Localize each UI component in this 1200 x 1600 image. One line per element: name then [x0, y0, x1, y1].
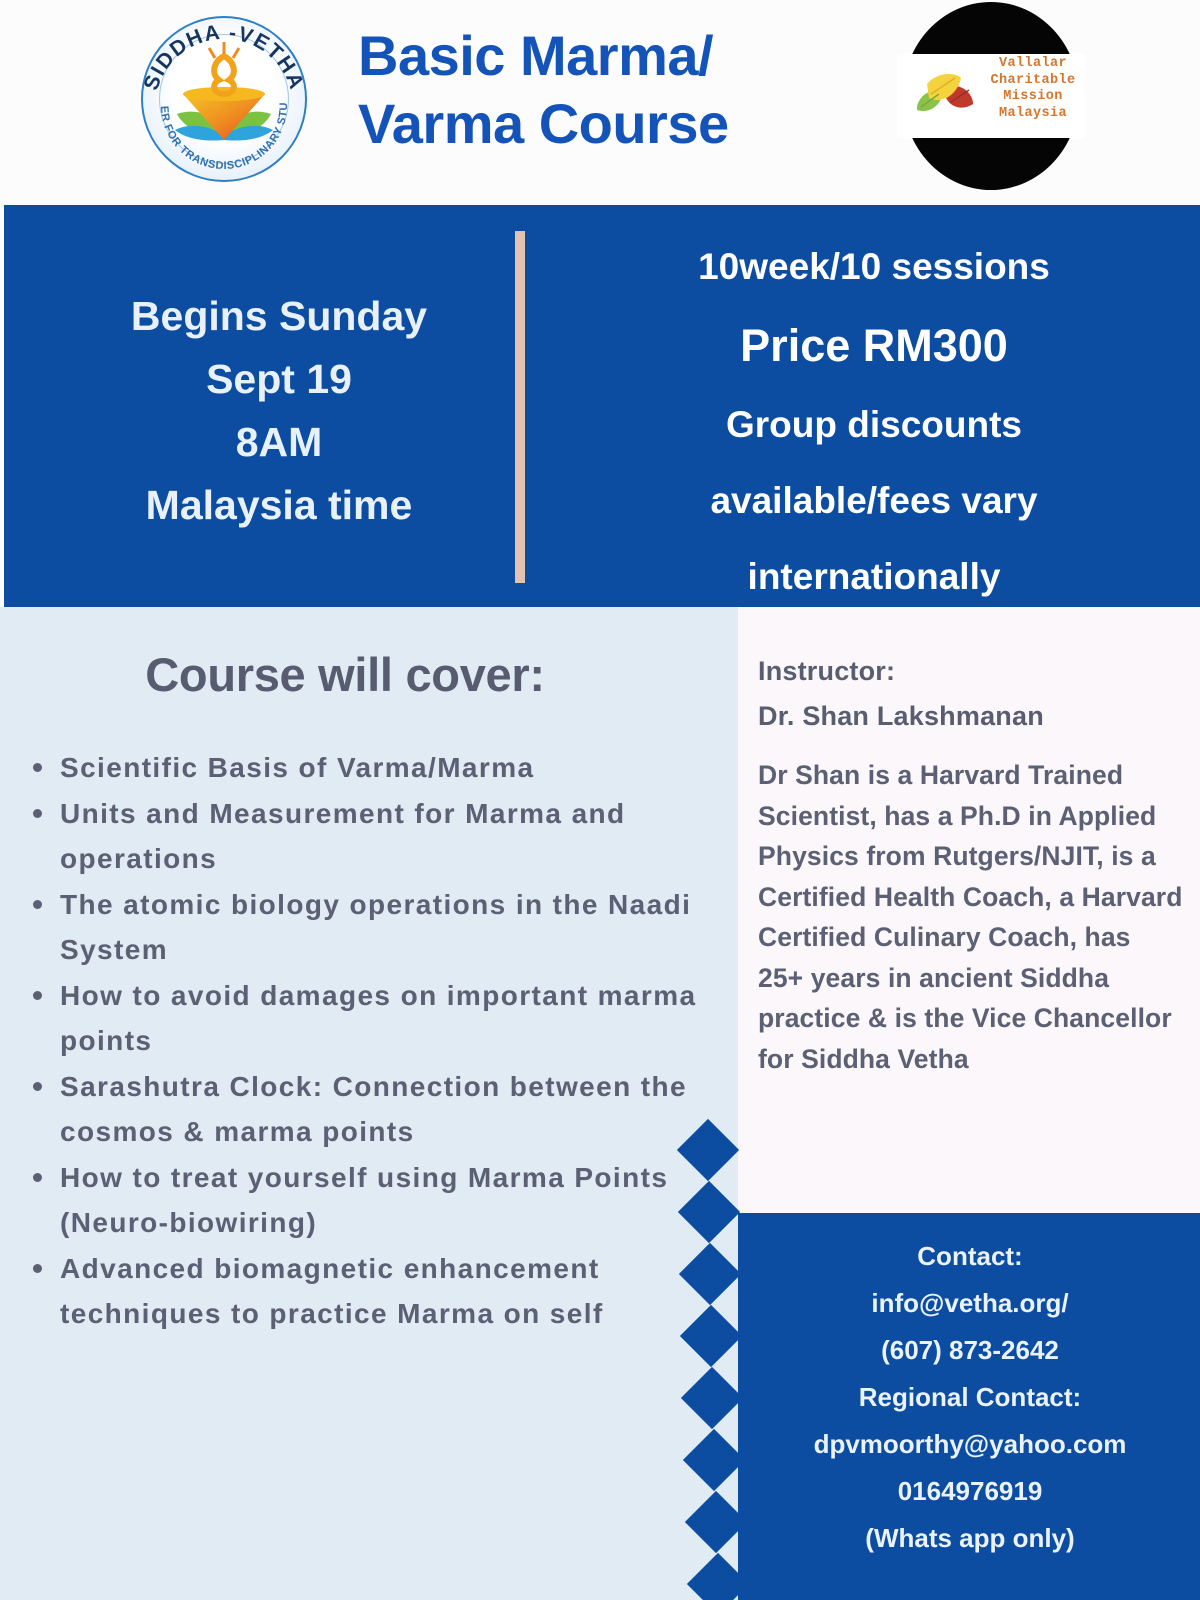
discount-line-3: internationally — [564, 539, 1184, 615]
contact-phone[interactable]: (607) 873-2642 — [756, 1327, 1184, 1374]
instructor-heading: Instructor: Dr. Shan Lakshmanan — [758, 649, 1188, 739]
vertical-divider — [515, 231, 525, 583]
list-item: Advanced biomagnetic enhancement techniq… — [18, 1246, 698, 1336]
discount-line-1: Group discounts — [564, 387, 1184, 463]
course-heading: Course will cover: — [0, 647, 690, 702]
logo-right-line-4: Malaysia — [983, 106, 1083, 123]
whatsapp-note: (Whats app only) — [756, 1515, 1184, 1562]
discount-line-2: available/fees vary — [564, 463, 1184, 539]
schedule-block: Begins Sunday Sept 19 8AM Malaysia time — [64, 285, 494, 537]
contact-box: Contact: info@vetha.org/ (607) 873-2642 … — [738, 1213, 1200, 1600]
instructor-bio: Dr Shan is a Harvard Trained Scientist, … — [758, 755, 1183, 1079]
contact-email[interactable]: info@vetha.org/ — [756, 1280, 1184, 1327]
poster-header: SIDDHA -VETHA CENTER FOR TRANSDISCIPLINA… — [0, 0, 1200, 205]
instructor-name: Dr. Shan Lakshmanan — [758, 694, 1188, 739]
regional-contact-phone[interactable]: 0164976919 — [756, 1468, 1184, 1515]
list-item-label: The atomic biology operations in the Naa… — [60, 889, 691, 965]
vallalar-charitable-mission-logo: Vallalar Charitable Mission Malaysia — [903, 2, 1079, 190]
list-item-label: Scientific Basis of Varma/Marma — [60, 752, 534, 783]
instructor-label: Instructor: — [758, 649, 1188, 694]
title-line-2: Varma Course — [358, 90, 888, 158]
list-item: How to treat yourself using Marma Points… — [18, 1155, 698, 1245]
schedule-line-1: Begins Sunday — [64, 285, 494, 348]
list-item-label: How to avoid damages on important marma … — [60, 980, 696, 1056]
contact-details: Contact: info@vetha.org/ (607) 873-2642 … — [756, 1233, 1184, 1562]
schedule-line-4: Malaysia time — [64, 474, 494, 537]
contact-label: Contact: — [756, 1233, 1184, 1280]
poster-root: SIDDHA -VETHA CENTER FOR TRANSDISCIPLINA… — [0, 0, 1200, 1600]
list-item-label: Advanced biomagnetic enhancement techniq… — [60, 1253, 604, 1329]
bullet-dot-icon — [33, 1264, 42, 1273]
bullet-dot-icon — [33, 809, 42, 818]
logo-right-line-1: Vallalar — [983, 56, 1083, 73]
bullet-dot-icon — [33, 1173, 42, 1182]
bullet-dot-icon — [33, 763, 42, 772]
list-item: Scientific Basis of Varma/Marma — [18, 745, 698, 790]
logo-right-line-3: Mission — [983, 89, 1083, 106]
bullet-dot-icon — [33, 1082, 42, 1091]
list-item: The atomic biology operations in the Naa… — [18, 882, 698, 972]
logo-right-text: Vallalar Charitable Mission Malaysia — [983, 56, 1083, 122]
list-item-label: Sarashutra Clock: Connection between the… — [60, 1071, 687, 1147]
course-content-column: Course will cover: Scientific Basis of V… — [0, 607, 738, 1600]
list-item-label: Units and Measurement for Marma and oper… — [60, 798, 626, 874]
leaves-icon — [911, 62, 981, 128]
price-block: 10week/10 sessions Price RM300 Group dis… — [564, 229, 1184, 615]
schedule-price-banner: Begins Sunday Sept 19 8AM Malaysia time … — [4, 205, 1200, 607]
discount-text: Group discounts available/fees vary inte… — [564, 387, 1184, 615]
siddha-vetha-logo: SIDDHA -VETHA CENTER FOR TRANSDISCIPLINA… — [133, 8, 315, 190]
list-item: Sarashutra Clock: Connection between the… — [18, 1064, 698, 1154]
schedule-line-2: Sept 19 — [64, 348, 494, 411]
price-text: Price RM300 — [564, 305, 1184, 387]
bullet-dot-icon — [33, 900, 42, 909]
bullet-dot-icon — [33, 991, 42, 1000]
title-line-1: Basic Marma/ — [358, 22, 888, 90]
list-item: How to avoid damages on important marma … — [18, 973, 698, 1063]
regional-contact-label: Regional Contact: — [756, 1374, 1184, 1421]
list-item: Units and Measurement for Marma and oper… — [18, 791, 698, 881]
course-topics-list: Scientific Basis of Varma/Marma Units an… — [18, 745, 698, 1337]
sessions-text: 10week/10 sessions — [564, 229, 1184, 305]
schedule-line-3: 8AM — [64, 411, 494, 474]
lamp-lotus-icon: SIDDHA -VETHA CENTER FOR TRANSDISCIPLINA… — [133, 8, 315, 190]
list-item-label: How to treat yourself using Marma Points… — [60, 1162, 668, 1238]
regional-contact-email[interactable]: dpvmoorthy@yahoo.com — [756, 1421, 1184, 1468]
logo-right-line-2: Charitable — [983, 73, 1083, 90]
page-title: Basic Marma/ Varma Course — [358, 22, 888, 158]
